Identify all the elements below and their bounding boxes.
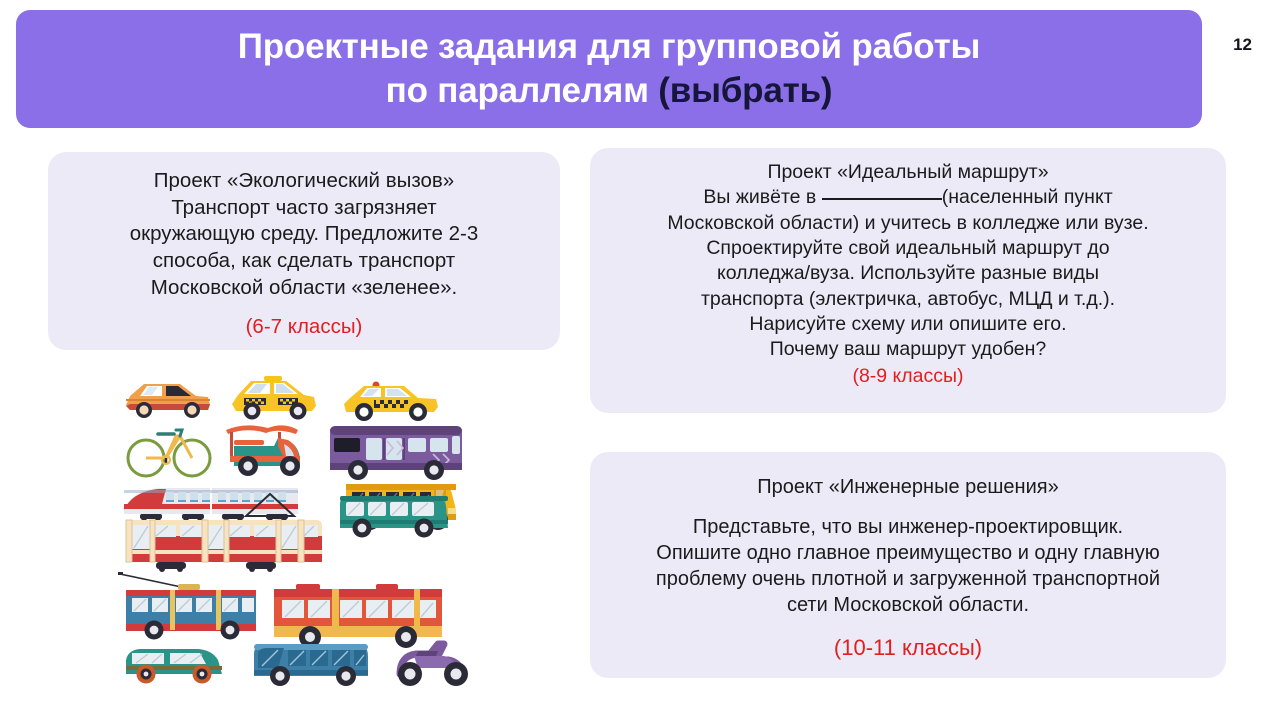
- card-route-body: Вы живёте в (населенный пункт Московской…: [667, 185, 1148, 362]
- fill-in-blank-field[interactable]: [822, 198, 942, 200]
- title-line-1: Проектные задания для групповой работы: [238, 25, 980, 69]
- coach-bus-blue-icon: [254, 644, 368, 686]
- card-eng-grade-badge: (10-11 классы): [834, 634, 982, 663]
- tuk-tuk-auto-rickshaw-icon: [226, 425, 300, 476]
- title-line-2-plain: по параллелям: [386, 71, 659, 110]
- card-eco-title: Проект «Экологический вызов»: [154, 168, 454, 195]
- card-engineering-solutions: Проект «Инженерные решения» Представьте,…: [590, 452, 1226, 678]
- title-banner: Проектные задания для групповой работы п…: [16, 10, 1202, 128]
- bicycle-icon: [128, 430, 210, 476]
- card-route-body-suffix: (населенный пункт Московской области) и …: [667, 186, 1148, 360]
- trolleybus-blue-icon: [118, 572, 256, 640]
- scooter-purple-icon: [398, 644, 468, 686]
- card-eco-grade-badge: (6-7 классы): [246, 314, 363, 341]
- city-bus-purple-icon: [330, 426, 462, 480]
- card-route-body-prefix: Вы живёте в: [703, 186, 821, 208]
- minivan-green-icon: [126, 649, 222, 684]
- taxi-car-yellow-sedan-icon: [344, 382, 438, 422]
- transport-collage-image: [118, 368, 468, 688]
- card-eng-body: Представьте, что вы инженер-проектировщи…: [656, 514, 1160, 618]
- card-route-title: Проект «Идеальный маршрут»: [767, 160, 1048, 185]
- taxi-car-yellow-hatchback-icon: [232, 376, 316, 420]
- slide-canvas: Проектные задания для групповой работы п…: [0, 0, 1280, 720]
- slide-number: 12: [1233, 36, 1252, 53]
- card-ideal-route: Проект «Идеальный маршрут» Вы живёте в (…: [590, 148, 1226, 413]
- card-eng-title: Проект «Инженерные решения»: [757, 474, 1058, 500]
- city-bus-red-orange-icon: [274, 584, 442, 648]
- card-eco-body: Транспорт часто загрязняет окружающую ср…: [130, 195, 479, 302]
- card-ecological-challenge: Проект «Экологический вызов» Транспорт ч…: [48, 152, 560, 350]
- card-route-grade-badge: (8-9 классы): [852, 364, 963, 389]
- minibus-van-teal-icon: [340, 496, 448, 538]
- title-line-2: по параллелям (выбрать): [386, 69, 833, 113]
- title-line-2-emphasis: (выбрать): [658, 71, 832, 110]
- sedan-car-orange-icon: [126, 384, 210, 418]
